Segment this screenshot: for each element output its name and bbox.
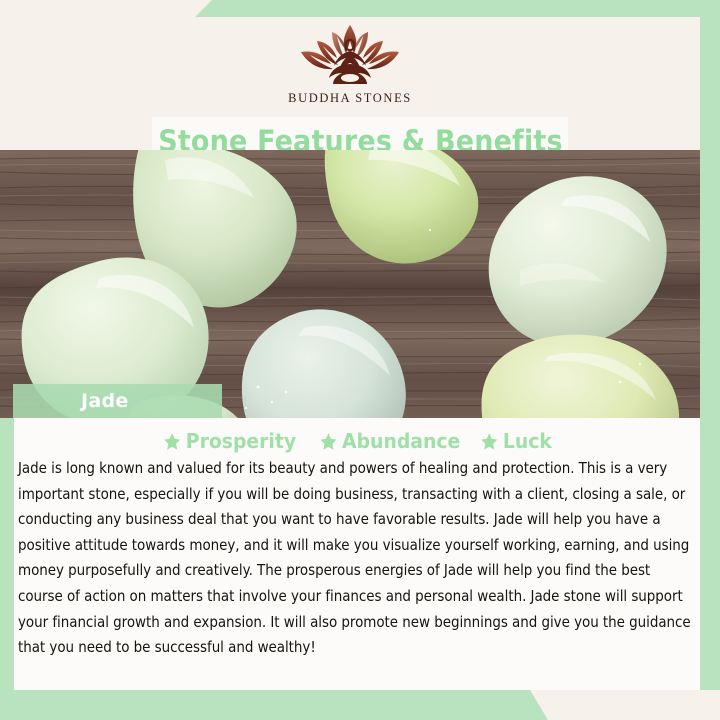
content-panel-surface: Prosperity Abundance Luck Jade is long k…: [14, 418, 700, 690]
stone-description: Jade is long known and valued for its be…: [18, 456, 698, 661]
stone-name-label: Jade: [81, 390, 129, 412]
benefit-item-luck: Luck: [481, 429, 553, 453]
benefit-item-abundance: Abundance: [319, 429, 460, 453]
benefit-item-prosperity: Prosperity: [164, 429, 297, 453]
lotus-meditation-icon: [292, 22, 408, 90]
brand-name: BUDDHA STONES: [288, 91, 412, 106]
star-icon: [481, 432, 499, 451]
bottom-accent-band: [0, 690, 548, 720]
right-accent-band: [700, 0, 720, 690]
star-icon: [164, 432, 182, 451]
benefit-label: Prosperity: [186, 429, 296, 453]
stone-photo: Jade: [0, 150, 700, 418]
benefits-row: Prosperity Abundance Luck: [14, 429, 700, 453]
header: BUDDHA STONES Stone Features & Benefits: [0, 17, 700, 150]
benefit-label: Luck: [503, 429, 552, 453]
content-panel: Prosperity Abundance Luck Jade is long k…: [14, 418, 700, 690]
jade-stones: [0, 150, 700, 418]
top-accent-band: [195, 0, 720, 17]
infographic-page: BUDDHA STONES Stone Features & Benefits: [0, 0, 720, 720]
benefit-label: Abundance: [342, 429, 460, 453]
stone-name-badge: Jade: [13, 384, 222, 418]
star-icon: [319, 432, 337, 451]
brand-logo: BUDDHA STONES: [0, 22, 700, 106]
